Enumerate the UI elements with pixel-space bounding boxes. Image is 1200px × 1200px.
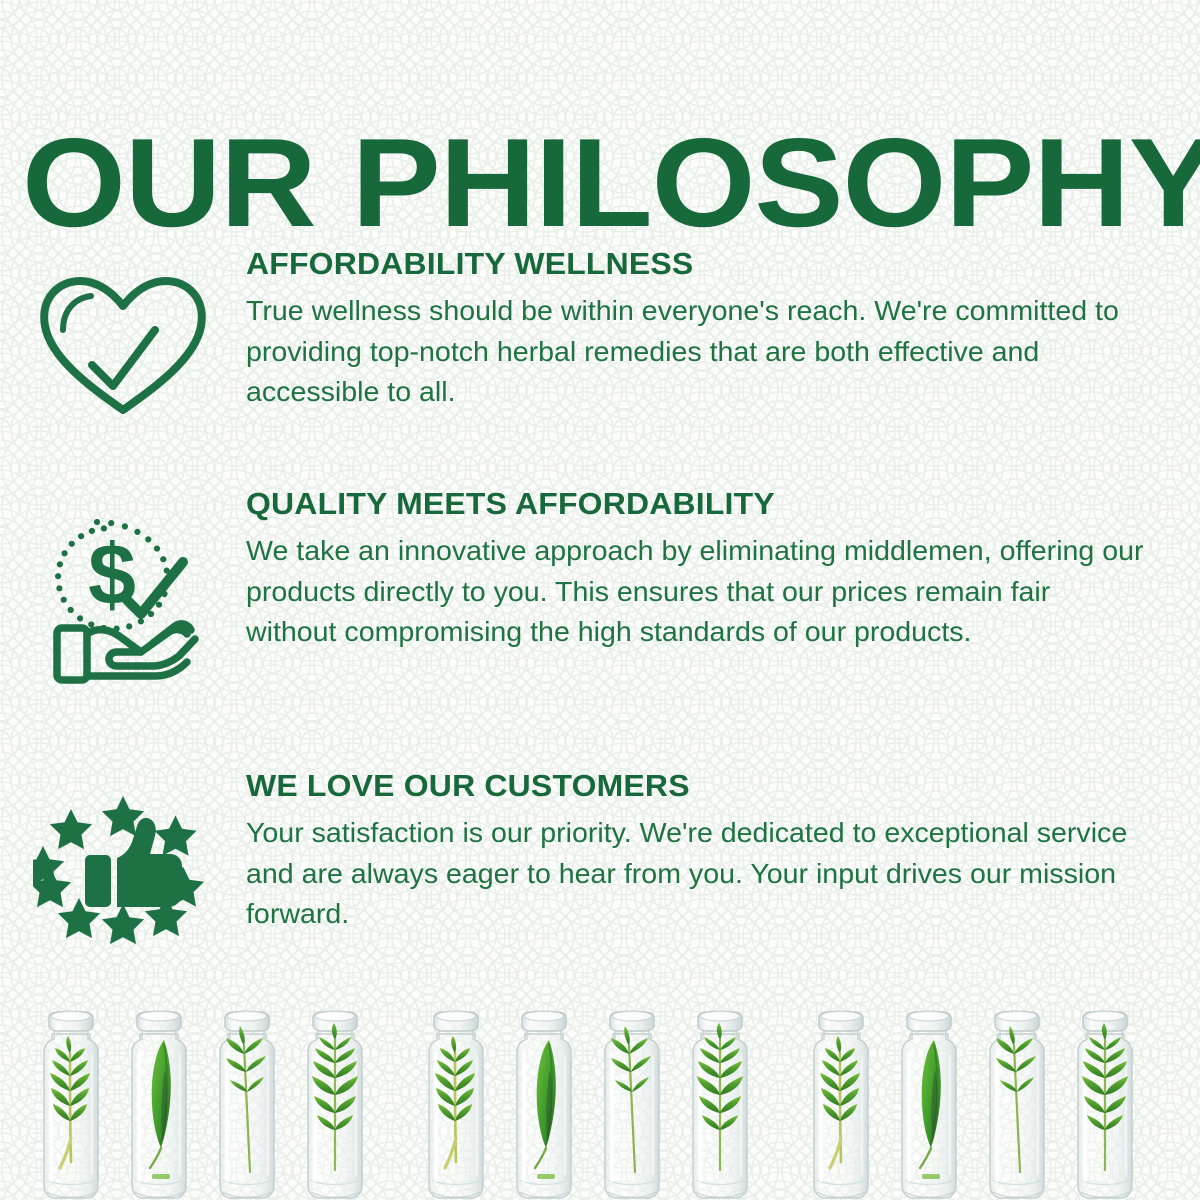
- philosophy-sections: AFFORDABILITY WELLNESS True wellness sho…: [0, 246, 1200, 968]
- section-quality-meets-affordability: $ QUALITY MEETS AFFORDABILITY: [0, 486, 1200, 768]
- philosophy-poster: OUR PHILOSOPHY AFFORDABILITY WELLNESS Tr…: [0, 0, 1200, 1200]
- section-heading: QUALITY MEETS AFFORDABILITY: [246, 486, 1196, 522]
- vial: [605, 1011, 659, 1198]
- vial: [429, 1011, 483, 1198]
- herb-vial-strip: [0, 1010, 1200, 1200]
- vial: [132, 1011, 186, 1198]
- section-body: True wellness should be within everyone'…: [246, 291, 1144, 414]
- section-heading: AFFORDABILITY WELLNESS: [246, 246, 1196, 282]
- section-text: QUALITY MEETS AFFORDABILITY We take an i…: [246, 486, 1200, 653]
- vial: [1078, 1011, 1132, 1198]
- section-heading: WE LOVE OUR CUSTOMERS: [246, 768, 1196, 804]
- vial: [308, 1011, 362, 1198]
- dollar-hand-check-icon: $: [0, 486, 246, 684]
- vial: [693, 1011, 747, 1198]
- open-hand: [57, 624, 195, 680]
- vial: [990, 1011, 1044, 1198]
- vial-group-2: [429, 1011, 747, 1198]
- section-affordability-wellness: AFFORDABILITY WELLNESS True wellness sho…: [0, 246, 1200, 486]
- thumbs-up-stars-icon: [0, 768, 246, 946]
- section-we-love-our-customers: WE LOVE OUR CUSTOMERS Your satisfaction …: [0, 768, 1200, 968]
- vial: [220, 1011, 274, 1198]
- section-body: We take an innovative approach by elimin…: [246, 531, 1144, 654]
- vial: [814, 1011, 868, 1198]
- vial: [44, 1011, 98, 1198]
- vial: [517, 1011, 571, 1198]
- heart-check-icon: [0, 246, 246, 422]
- vial-group-1: [44, 1011, 362, 1198]
- section-text: AFFORDABILITY WELLNESS True wellness sho…: [246, 246, 1200, 413]
- section-body: Your satisfaction is our priority. We're…: [246, 813, 1144, 936]
- page-title: OUR PHILOSOPHY: [22, 120, 1200, 246]
- section-text: WE LOVE OUR CUSTOMERS Your satisfaction …: [246, 768, 1200, 935]
- vial-group-3: [814, 1011, 1132, 1198]
- vial: [902, 1011, 956, 1198]
